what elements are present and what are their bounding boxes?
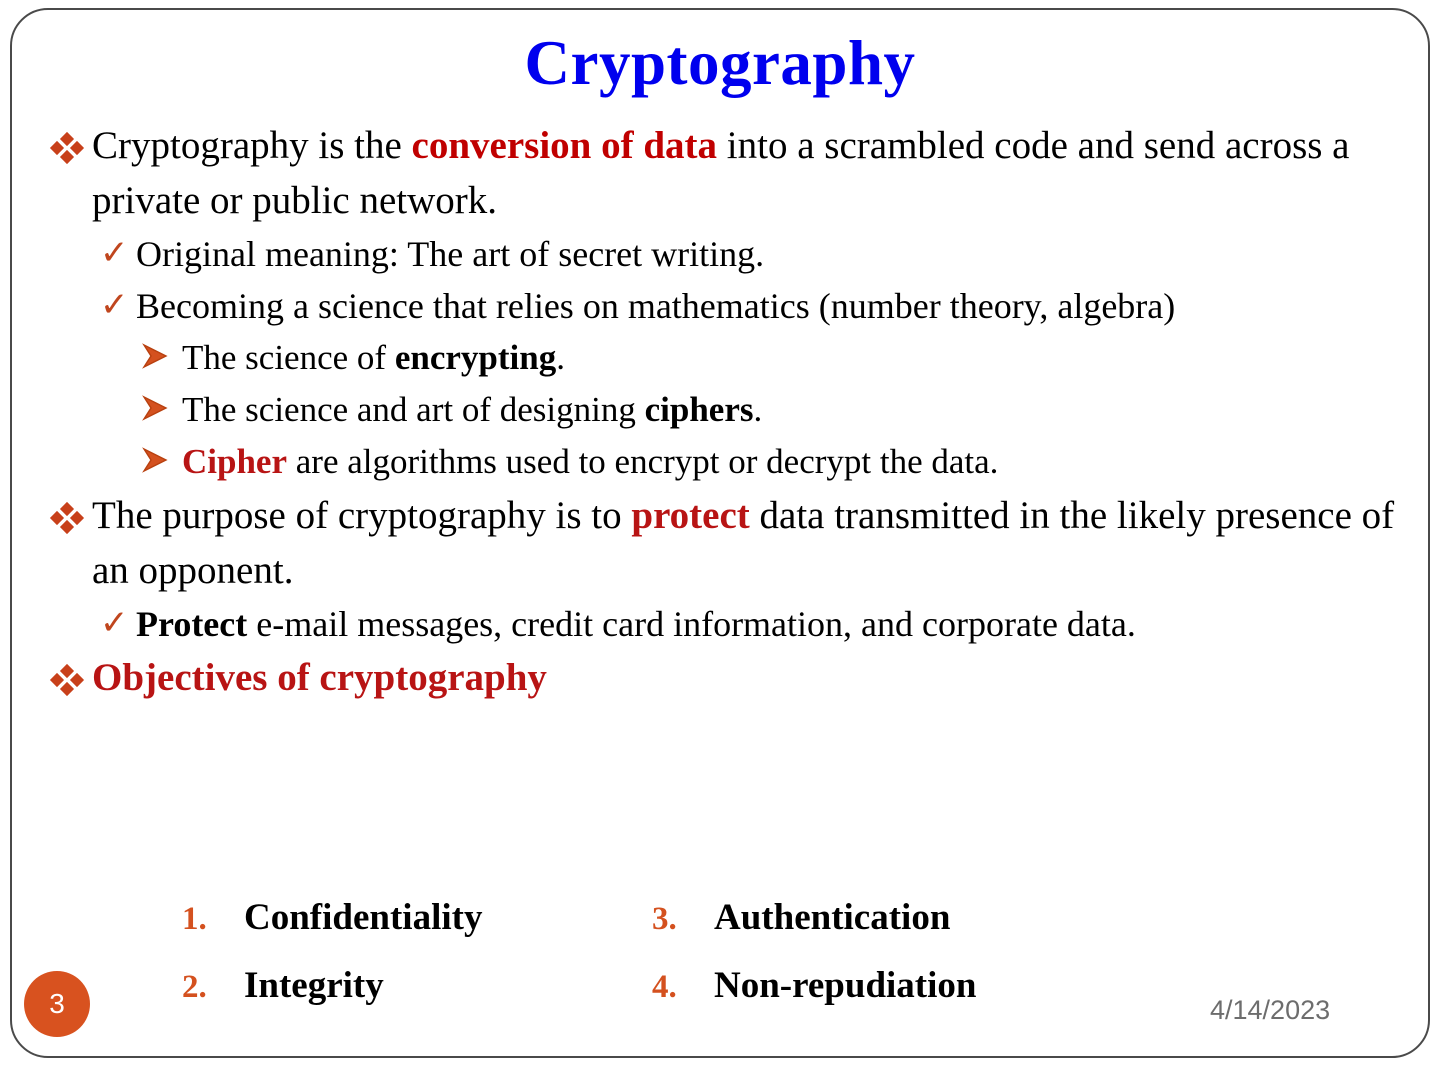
list-item-row: 1. Confidentiality 3. Authentication bbox=[182, 896, 1282, 964]
bullet-level3-designing-ciphers: The science and art of designing ciphers… bbox=[0, 384, 1440, 436]
bullet-level3-science-of-encrypting: The science of encrypting. bbox=[0, 332, 1440, 384]
list-number: 1. bbox=[182, 897, 244, 941]
text-segment: Cryptography is the bbox=[92, 124, 412, 167]
page-title: Cryptography bbox=[0, 27, 1440, 99]
diamond-cluster-bullet-icon bbox=[52, 134, 82, 162]
emphasis-cipher: Cipher bbox=[182, 442, 287, 481]
diamond-cluster-bullet-icon bbox=[52, 666, 82, 694]
bullet-level2-protect-email: ✓Protect e-mail messages, credit card in… bbox=[0, 598, 1440, 650]
diamond-cluster-bullet-icon bbox=[52, 504, 82, 532]
text-segment: The purpose of cryptography is to bbox=[92, 494, 631, 537]
list-label: Integrity bbox=[244, 964, 384, 1008]
slide-date: 4/14/2023 bbox=[1210, 993, 1390, 1027]
slide-body: Cryptography is the conversion of data i… bbox=[0, 118, 1440, 706]
text-segment: . bbox=[556, 338, 565, 377]
list-item-confidentiality: 1. Confidentiality bbox=[182, 896, 652, 941]
arrow-bullet-icon bbox=[140, 440, 170, 474]
list-item-integrity: 2. Integrity bbox=[182, 964, 652, 1009]
list-number: 2. bbox=[182, 965, 244, 1009]
text-segment: e-mail messages, credit card information… bbox=[247, 604, 1136, 644]
bullet-level1-purpose-of-cryptography: The purpose of cryptography is to protec… bbox=[0, 488, 1440, 598]
list-label: Non-repudiation bbox=[714, 964, 977, 1008]
text-segment: Original meaning: The art of secret writ… bbox=[136, 234, 764, 274]
list-item-non-repudiation: 4. Non-repudiation bbox=[652, 964, 1122, 1009]
check-bullet-icon: ✓ bbox=[100, 602, 129, 644]
arrow-bullet-icon bbox=[140, 388, 170, 422]
emphasis-protect: Protect bbox=[136, 604, 247, 644]
emphasis-encrypting: encrypting bbox=[395, 338, 556, 377]
list-number: 3. bbox=[652, 897, 714, 941]
bullet-level2-original-meaning: ✓Original meaning: The art of secret wri… bbox=[0, 228, 1440, 280]
text-segment: The science of bbox=[182, 338, 395, 377]
text-segment: The science and art of designing bbox=[182, 390, 645, 429]
emphasis-protect: protect bbox=[631, 494, 749, 537]
list-number: 4. bbox=[652, 965, 714, 1009]
check-bullet-icon: ✓ bbox=[100, 284, 129, 326]
check-bullet-icon: ✓ bbox=[100, 232, 129, 274]
arrow-bullet-icon bbox=[140, 336, 170, 370]
text-segment: Becoming a science that relies on mathem… bbox=[136, 286, 1175, 326]
emphasis-conversion-of-data: conversion of data bbox=[412, 124, 718, 167]
bullet-level1-cryptography-definition: Cryptography is the conversion of data i… bbox=[0, 118, 1440, 228]
list-item-authentication: 3. Authentication bbox=[652, 896, 1122, 941]
bullet-level2-becoming-a-science: ✓Becoming a science that relies on mathe… bbox=[0, 280, 1440, 332]
text-segment: are algorithms used to encrypt or decryp… bbox=[287, 442, 998, 481]
list-label: Authentication bbox=[714, 896, 950, 940]
text-segment: Objectives of cryptography bbox=[92, 656, 547, 699]
list-label: Confidentiality bbox=[244, 896, 482, 940]
bullet-level3-cipher-algorithms: Cipher are algorithms used to encrypt or… bbox=[0, 436, 1440, 488]
bullet-level1-objectives-heading: Objectives of cryptography bbox=[0, 650, 1440, 706]
slide-number-badge: 3 bbox=[24, 971, 90, 1037]
objectives-list: 1. Confidentiality 3. Authentication 2. … bbox=[182, 896, 1282, 1032]
list-item-row: 2. Integrity 4. Non-repudiation bbox=[182, 964, 1282, 1032]
presentation-slide: Cryptography Cryptography is the convers… bbox=[0, 0, 1440, 1080]
emphasis-ciphers: ciphers bbox=[645, 390, 754, 429]
text-segment: . bbox=[754, 390, 763, 429]
